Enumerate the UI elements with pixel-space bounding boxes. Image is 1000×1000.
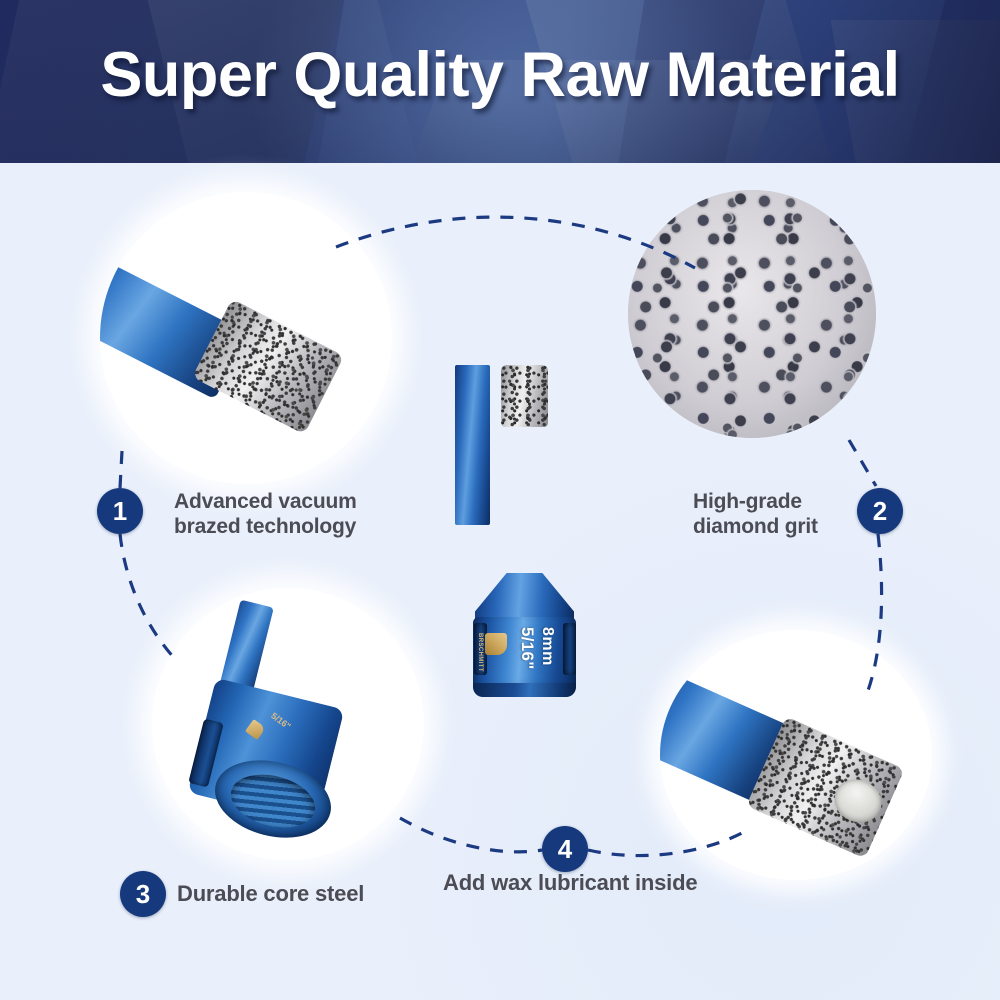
connector-bubble2-badge2 xyxy=(849,440,876,486)
connector-bubble1-badge1 xyxy=(120,451,122,488)
brand-logo-icon xyxy=(485,633,507,655)
feature-photo-wax-lubricant xyxy=(660,630,932,880)
brand-name-label: BRSCHMITT xyxy=(477,633,483,672)
header-banner: Super Quality Raw Material xyxy=(0,0,1000,163)
feature-caption-2-line2: diamond grit xyxy=(693,515,818,540)
brand-logo: BRSCHMITT xyxy=(465,633,507,655)
connector-badge1-bubble3 xyxy=(120,534,176,660)
feature-photo-diamond-grit-macro xyxy=(628,190,876,438)
page-title: Super Quality Raw Material xyxy=(0,0,1000,163)
hero-size-imperial-label: 5/16" xyxy=(517,627,537,670)
hero-grit-crown xyxy=(501,365,548,427)
feature-badge-4[interactable]: 4 xyxy=(542,826,588,872)
feature-caption-2: High-grade diamond grit xyxy=(693,490,818,540)
product-infographic-poster: Super Quality Raw Material 5/16" 5/16" 8… xyxy=(0,0,1000,1000)
feature-caption-1-line2: brazed technology xyxy=(174,515,357,540)
feature-badge-1[interactable]: 1 xyxy=(97,488,143,534)
feature-caption-1-line1: Advanced vacuum xyxy=(174,490,357,515)
hero-size-metric-label: 8mm xyxy=(538,627,556,666)
feature-caption-2-line1: High-grade xyxy=(693,490,818,515)
hero-base-ring xyxy=(473,683,576,697)
feature-photo-brazed-tip xyxy=(100,192,392,484)
hero-barrel-notch-right xyxy=(563,623,576,675)
hero-shaft xyxy=(455,365,490,525)
feature-badge-3[interactable]: 3 xyxy=(120,871,166,917)
hero-product-drill-bit: 5/16" 8mm BRSCHMITT xyxy=(455,365,595,695)
connector-bubble3-badge4 xyxy=(400,818,542,852)
feature-photo-core-steel: 5/16" xyxy=(152,588,424,860)
grit-particles-texture xyxy=(628,190,876,438)
feature-caption-3: Durable core steel xyxy=(177,881,364,907)
feature-badge-2[interactable]: 2 xyxy=(857,488,903,534)
feature-caption-1: Advanced vacuum brazed technology xyxy=(174,490,357,540)
feature-caption-4: Add wax lubricant inside xyxy=(443,870,697,896)
